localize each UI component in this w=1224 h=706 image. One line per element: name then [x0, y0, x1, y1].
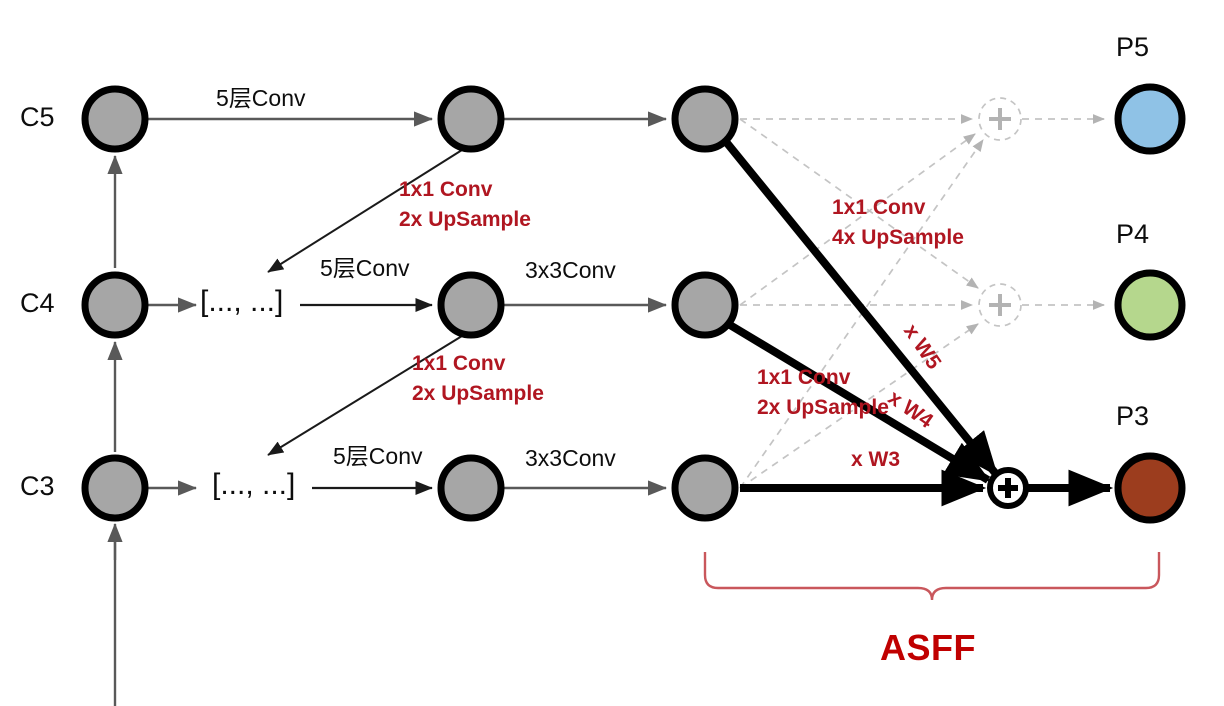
concat-c4: [..., ...]	[200, 285, 283, 319]
edge-label-conv5-c4: 5层Conv	[320, 256, 409, 282]
concat-c3: [..., ...]	[212, 468, 295, 502]
upsample-c5-to-c4-line1: 1x1 Conv	[399, 178, 492, 202]
p3-label: P3	[1116, 401, 1149, 431]
edge-label-conv5-c3: 5层Conv	[333, 444, 422, 470]
edge-label-conv3x3-c3: 3x3Conv	[525, 446, 616, 472]
asff-p5-branch-line2: 4x UpSample	[832, 226, 964, 250]
c5-label: C5	[20, 102, 55, 132]
asff-p4-branch-line2: 2x UpSample	[757, 396, 889, 420]
asff-title: ASFF	[880, 628, 976, 668]
edge-label-conv3x3-c4: 3x3Conv	[525, 258, 616, 284]
p5-node	[1118, 87, 1182, 151]
p5-label: P5	[1116, 32, 1149, 62]
asff-brace	[705, 552, 1159, 600]
p4-node	[1118, 273, 1182, 337]
c3-label: C3	[20, 471, 55, 501]
weight-w3: x W3	[851, 448, 900, 472]
p3-node	[1118, 456, 1182, 520]
c4-label: C4	[20, 288, 55, 318]
output-nodes	[1118, 87, 1182, 520]
upsample-c4-to-c3-line1: 1x1 Conv	[412, 352, 505, 376]
asff-p4-branch-line1: 1x1 Conv	[757, 366, 850, 390]
upsample-c5-to-c4-line2: 2x UpSample	[399, 208, 531, 232]
asff-p5-branch-line1: 1x1 Conv	[832, 196, 925, 220]
edge-label-conv5-c5: 5层Conv	[216, 86, 305, 112]
diagram-canvas: C5 C4 C3 [..., ...] [..., ...] 5层Conv 5层…	[0, 0, 1224, 706]
p4-label: P4	[1116, 219, 1149, 249]
asff-diagram-svg	[0, 0, 1224, 706]
upsample-c4-to-c3-line2: 2x UpSample	[412, 382, 544, 406]
